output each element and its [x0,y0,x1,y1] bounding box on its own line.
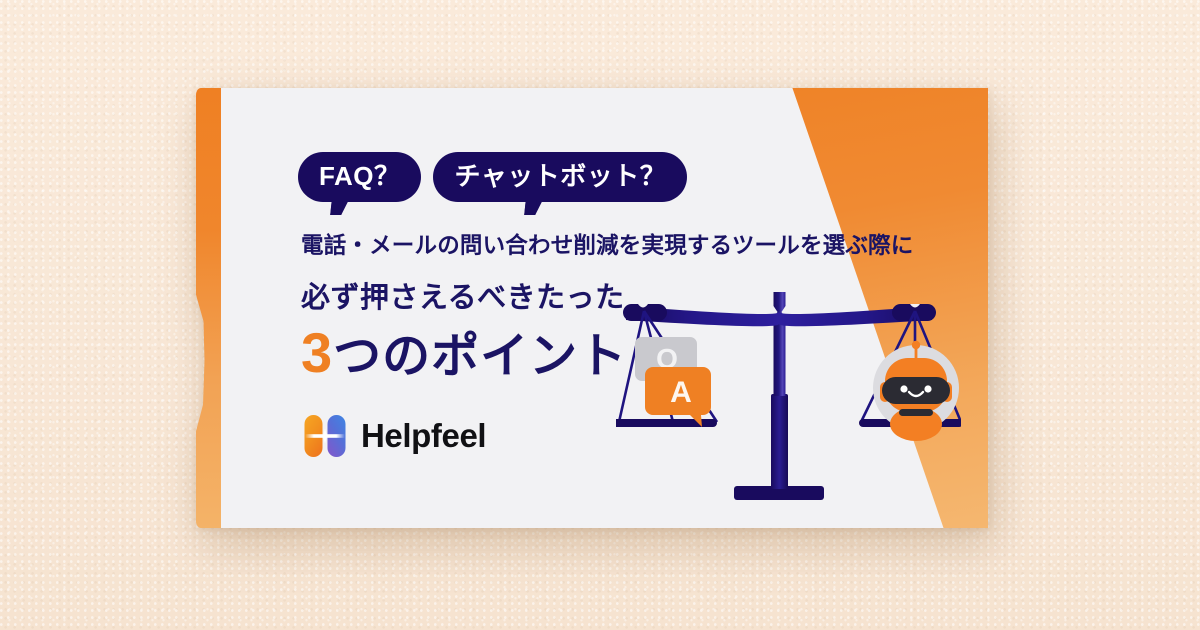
scale-upper-post [774,292,786,396]
scale-lower-post [771,394,788,489]
helpfeel-logo: Helpfeel [302,413,486,459]
headline-line-1: 電話・メールの問い合わせ削減を実現するツールを選ぶ際に [301,228,913,260]
balance-scale-svg: Q A [616,278,961,528]
bubble-chatbot: チャットボット？ [433,152,687,202]
headline-number: 3 [301,321,333,384]
speech-bubble-group: FAQ？ チャットボット？ [298,152,687,202]
headline-line-3-rest: つのポイント [333,330,627,383]
bubble-faq: FAQ？ [298,152,421,202]
balance-scale-illustration: Q A [616,278,961,528]
helpfeel-wordmark: Helpfeel [361,417,486,455]
book-spine [196,88,221,528]
bubble-chatbot-label: チャットボット？ [454,161,666,191]
a-bubble-label: A [670,376,692,409]
a-speech-bubble: A [645,367,711,427]
whitepaper-cover-card: FAQ？ チャットボット？ 電話・メールの問い合わせ削減を実現するツールを選ぶ際… [196,88,988,528]
helpfeel-h-mark-icon [302,413,348,459]
page-backdrop: FAQ？ チャットボット？ 電話・メールの問い合わせ削減を実現するツールを選ぶ際… [0,0,1200,630]
cover-face: FAQ？ チャットボット？ 電話・メールの問い合わせ削減を実現するツールを選ぶ際… [221,88,988,528]
bubble-faq-label: FAQ？ [319,161,400,191]
